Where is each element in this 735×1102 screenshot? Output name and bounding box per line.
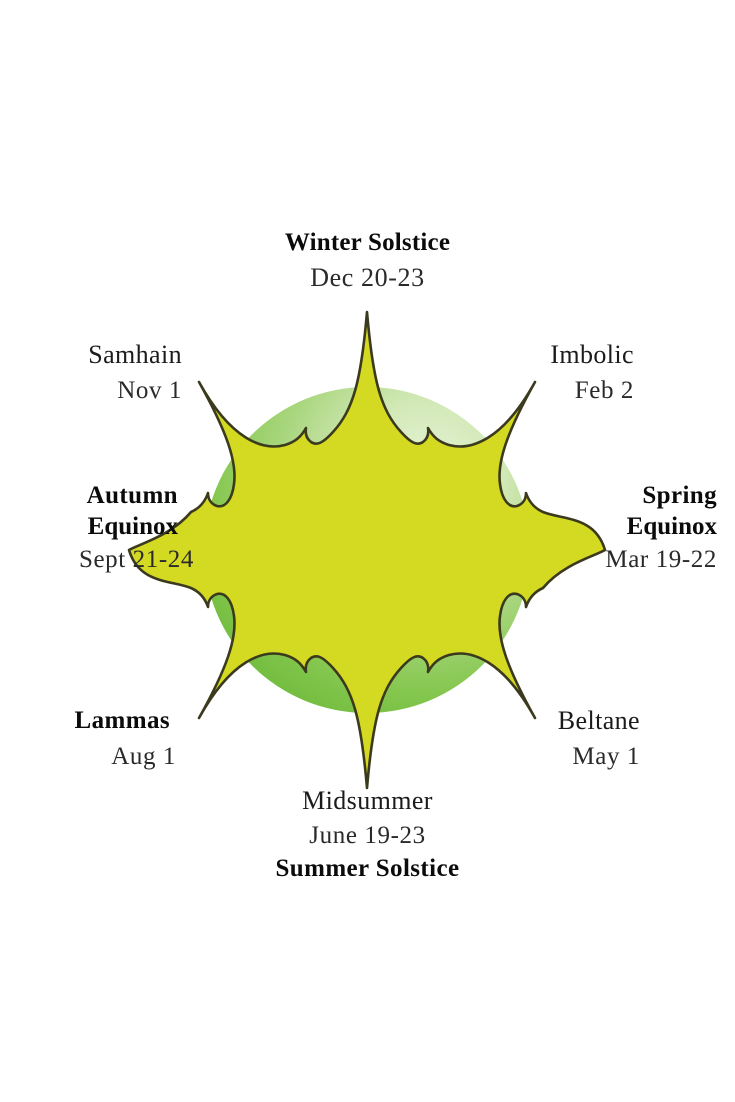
beltane-dates: May 1 (420, 742, 640, 772)
label-spring-equinox: Spring Equinox Mar 19-22 (455, 481, 717, 575)
label-samhain: Samhain Nov 1 (0, 340, 182, 405)
label-winter-solstice: Winter Solstice Dec 20-23 (0, 228, 735, 293)
midsummer-dates: June 19-23 (0, 821, 735, 851)
spring-equinox-name-line1: Spring (455, 481, 717, 511)
autumn-equinox-name-line1: Autumn (6, 481, 178, 511)
label-autumn-equinox: Autumn Equinox Sept 21-24 (6, 481, 178, 575)
wheel-of-the-year-figure: Winter Solstice Dec 20-23 Imbolic Feb 2 … (0, 0, 735, 1102)
imbolc-festival-name: Imbolic (400, 340, 634, 371)
summer-solstice-name: Summer Solstice (0, 854, 735, 884)
beltane-festival-name: Beltane (420, 706, 640, 737)
lammas-festival-name: Lammas (0, 706, 170, 736)
autumn-equinox-dates: Sept 21-24 (6, 545, 194, 575)
spring-equinox-name-line2: Equinox (455, 512, 717, 542)
samhain-festival-name: Samhain (0, 340, 182, 371)
winter-solstice-name: Winter Solstice (0, 228, 735, 258)
label-midsummer: Midsummer June 19-23 Summer Solstice (0, 786, 735, 884)
label-imbolc: Imbolic Feb 2 (400, 340, 634, 405)
midsummer-festival-name: Midsummer (0, 786, 735, 817)
spring-equinox-dates: Mar 19-22 (455, 545, 717, 575)
label-lammas: Lammas Aug 1 (0, 706, 170, 771)
lammas-dates: Aug 1 (0, 742, 176, 772)
samhain-dates: Nov 1 (0, 376, 182, 406)
label-beltane: Beltane May 1 (420, 706, 640, 771)
winter-solstice-dates: Dec 20-23 (0, 263, 735, 294)
imbolc-dates: Feb 2 (400, 376, 634, 406)
autumn-equinox-name-line2: Equinox (6, 512, 178, 542)
